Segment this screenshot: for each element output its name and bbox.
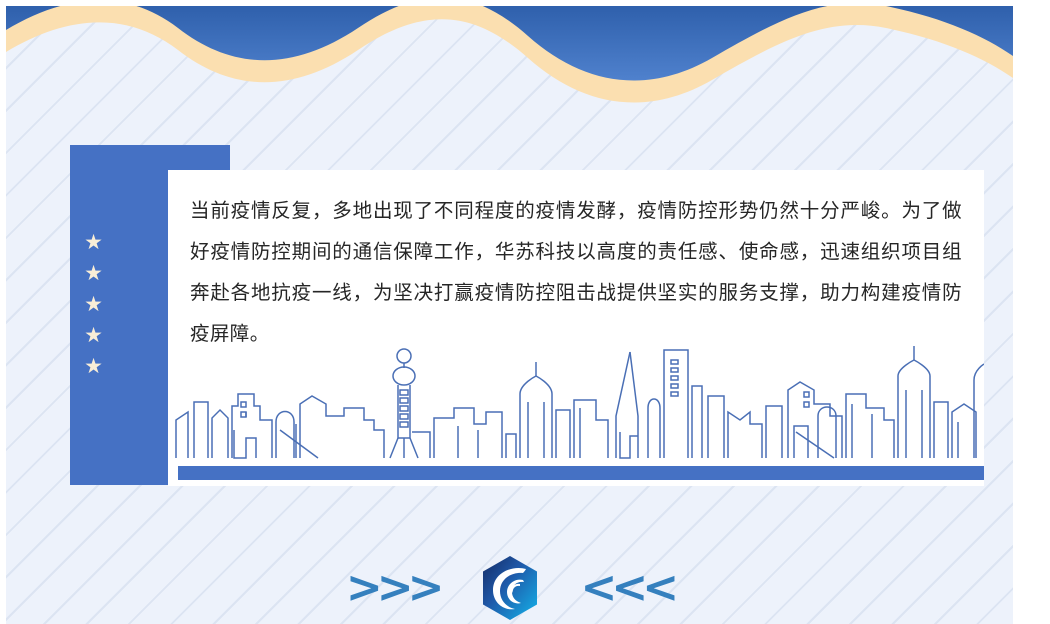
star-icon: ★	[84, 233, 103, 252]
wave-cream-layer	[6, 6, 1013, 102]
left-chevrons-icon: <<<	[581, 566, 674, 610]
star-icon: ★	[84, 264, 103, 283]
star-column: ★ ★ ★ ★ ★	[84, 233, 103, 376]
skyline-graphic	[168, 346, 984, 466]
wave-blue-layer	[6, 6, 1013, 80]
content-plate: ★ ★ ★ ★ ★ 当前疫情反复，多地出现了不同程度的疫情发酵，疫情防控形势仍然…	[6, 6, 1013, 624]
card-bottom-bar	[178, 466, 984, 480]
logo-graphic	[479, 555, 541, 621]
content-card: 当前疫情反复，多地出现了不同程度的疫情发酵，疫情防控形势仍然十分严峻。为了做好疫…	[168, 170, 984, 486]
poster-canvas: ★ ★ ★ ★ ★ 当前疫情反复，多地出现了不同程度的疫情发酵，疫情防控形势仍然…	[0, 0, 1050, 624]
hexagon-company-logo	[479, 555, 541, 621]
card-body-text: 当前疫情反复，多地出现了不同程度的疫情发酵，疫情防控形势仍然十分严峻。为了做好疫…	[190, 190, 962, 354]
wave-graphic	[6, 6, 1013, 121]
right-chevrons-icon: >>>	[346, 566, 439, 610]
star-icon: ★	[84, 357, 103, 376]
footer-row: >>> <<<	[6, 546, 1013, 624]
star-icon: ★	[84, 295, 103, 314]
city-skyline-illustration	[168, 346, 984, 466]
top-wave-banner	[6, 6, 1013, 121]
star-icon: ★	[84, 326, 103, 345]
